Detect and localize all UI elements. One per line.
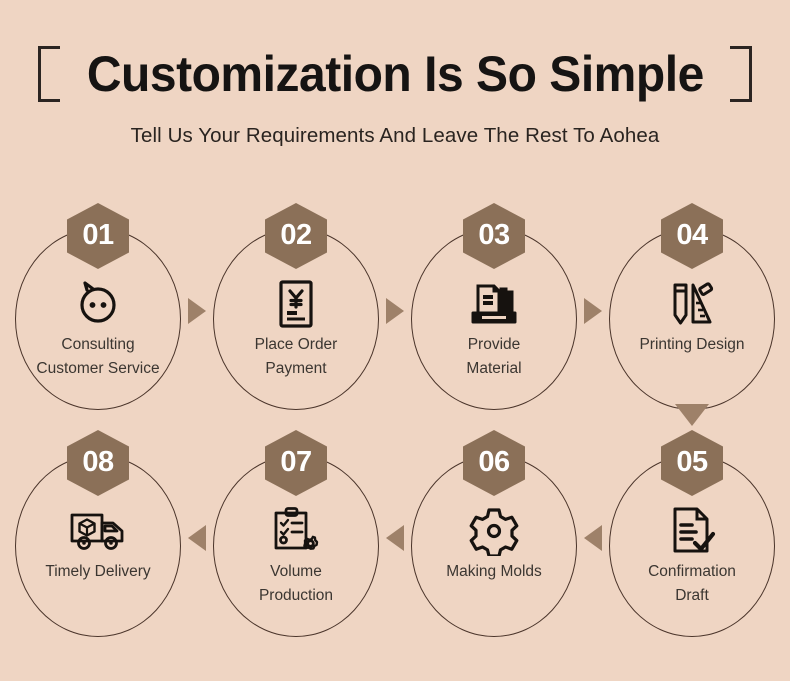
title-row: Customization Is So Simple	[0, 46, 790, 102]
arrow-left-06-07	[382, 430, 408, 645]
gear-icon	[465, 505, 523, 557]
step-label-line1: Making Molds	[446, 563, 542, 580]
page-header: Customization Is So Simple Tell Us Your …	[0, 0, 790, 148]
step-number: 07	[280, 448, 311, 477]
step-label-line2: Draft	[612, 584, 772, 608]
step-label: Provide Material	[414, 333, 574, 381]
pencil-ruler-icon	[663, 278, 721, 330]
page-title: Customization Is So Simple	[87, 49, 704, 99]
step-label-line1: Place Order	[255, 336, 338, 353]
bracket-right-icon	[730, 46, 752, 102]
step-number: 01	[82, 221, 113, 250]
flow-row-bottom: 08 Timely Delivery 07	[0, 430, 790, 645]
step-label: Place Order Payment	[216, 333, 376, 381]
step-node-06[interactable]: 06 Making Molds	[408, 430, 580, 645]
arrow-left-05-06	[580, 430, 606, 645]
step-node-04[interactable]: 04 Printing Design	[606, 203, 778, 418]
step-label-line2: Material	[414, 357, 574, 381]
step-label: Timely Delivery	[18, 560, 178, 584]
step-label-line2: Payment	[216, 357, 376, 381]
step-label: Confirmation Draft	[612, 560, 772, 608]
document-check-icon	[663, 505, 721, 557]
chat-bubble-icon	[69, 278, 127, 330]
step-label: Consulting Customer Service	[18, 333, 178, 381]
arrow-right-03-04	[580, 203, 606, 418]
step-label-line1: Timely Delivery	[45, 563, 150, 580]
step-label: Volume Production	[216, 560, 376, 608]
delivery-truck-icon	[69, 505, 127, 557]
step-number: 05	[676, 448, 707, 477]
step-node-02[interactable]: 02 Place Order Payment	[210, 203, 382, 418]
step-node-01[interactable]: 01 Consulting Customer Service	[12, 203, 184, 418]
step-number: 03	[478, 221, 509, 250]
step-number: 08	[82, 448, 113, 477]
step-label: Printing Design	[612, 333, 772, 357]
flow-row-top: 01 Consulting Customer Service 02	[0, 203, 790, 418]
clipboard-gear-icon	[267, 505, 325, 557]
step-label-line1: Printing Design	[639, 336, 744, 353]
step-node-08[interactable]: 08 Timely Delivery	[12, 430, 184, 645]
step-number: 02	[280, 221, 311, 250]
arrow-left-07-08	[184, 430, 210, 645]
step-label-line1: Consulting	[61, 336, 134, 353]
step-label: Making Molds	[414, 560, 574, 584]
step-node-05[interactable]: 05 Confirmation Draft	[606, 430, 778, 645]
step-label-line1: Provide	[468, 336, 521, 353]
step-number: 06	[478, 448, 509, 477]
step-label-line2: Customer Service	[18, 357, 178, 381]
step-label-line2: Production	[216, 584, 376, 608]
step-number: 04	[676, 221, 707, 250]
arrow-right-01-02	[184, 203, 210, 418]
step-node-03[interactable]: 03 Provide Material	[408, 203, 580, 418]
step-label-line1: Confirmation	[648, 563, 736, 580]
bracket-left-icon	[38, 46, 60, 102]
step-label-line1: Volume	[270, 563, 322, 580]
documents-tray-icon	[465, 278, 523, 330]
invoice-yen-icon	[267, 278, 325, 330]
arrow-right-02-03	[382, 203, 408, 418]
page-subtitle: Tell Us Your Requirements And Leave The …	[0, 124, 790, 148]
step-node-07[interactable]: 07 Volume Production	[210, 430, 382, 645]
